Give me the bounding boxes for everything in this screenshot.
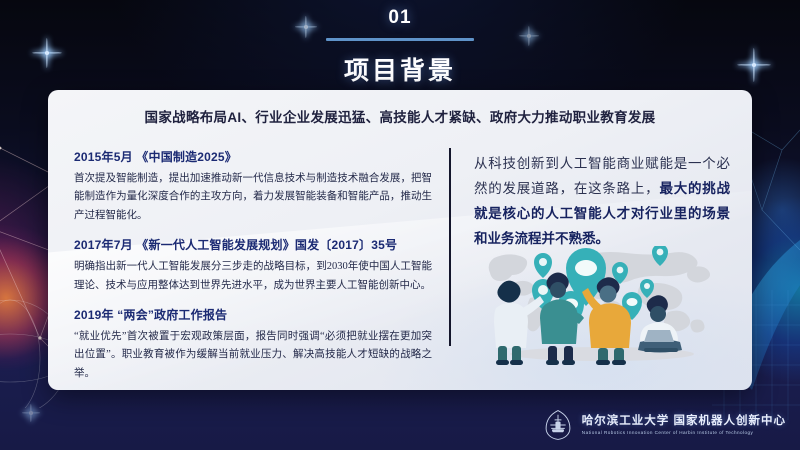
timeline-column: 2015年5月 《中国制造2025》 首次提及智能制造，提出加速推动新一代信息技… [48, 142, 450, 390]
card-headline: 国家战略布局AI、行业企业发展迅猛、高技能人才紧缺、政府大力推动职业教育发展 [48, 106, 752, 126]
entry-title: 2019年 “两会”政府工作报告 [74, 306, 432, 323]
footer-logo-en: National Robotics Innovation Center of H… [582, 430, 786, 435]
title-underline [326, 38, 474, 41]
content-card: 国家战略布局AI、行业企业发展迅猛、高技能人才紧缺、政府大力推动职业教育发展 2… [48, 90, 752, 390]
list-item: 2017年7月 《新一代人工智能发展规划》国发〔2017〕35号 明确指出新一代… [74, 236, 432, 295]
list-item: 2019年 “两会”政府工作报告 “就业优先”首次被置于宏观政策层面，报告同时强… [74, 306, 432, 383]
entry-body: 首次提及智能制造，提出加速推动新一代信息技术与制造技术融合发展，把智能制造作为量… [74, 170, 432, 225]
footer-text: 哈尔滨工业大学 国家机器人创新中心 National Robotics Inno… [582, 415, 786, 436]
quote-text: 从科技创新到人工智能商业赋能是一个必然的发展道路，在这条路上，最大的挑战就是核心… [474, 152, 730, 252]
location-pin [534, 253, 552, 278]
page-title: 项目背景 [0, 51, 800, 87]
entry-title: 2017年7月 《新一代人工智能发展规划》国发〔2017〕35号 [74, 236, 432, 253]
quote-column: 从科技创新到人工智能商业赋能是一个必然的发展道路，在这条路上，最大的挑战就是核心… [450, 142, 752, 390]
university-emblem-icon [541, 408, 575, 442]
slide-background: 01 项目背景 国家战略布局AI、行业企业发展迅猛、高技能人才紧缺、政府大力推动… [0, 0, 800, 450]
entry-body: “就业优先”首次被置于宏观政策层面，报告同时强调“必须把就业摆在更加突出位置”。… [74, 328, 432, 383]
footer-logo-cn: 哈尔滨工业大学 国家机器人创新中心 [582, 415, 786, 428]
column-divider [449, 148, 451, 346]
section-number: 01 [0, 6, 800, 30]
entry-title: 2015年5月 《中国制造2025》 [74, 148, 432, 165]
list-item: 2015年5月 《中国制造2025》 首次提及智能制造，提出加速推动新一代信息技… [74, 148, 432, 225]
card-columns: 2015年5月 《中国制造2025》 首次提及智能制造，提出加速推动新一代信息技… [48, 142, 752, 390]
footer-logo: 哈尔滨工业大学 国家机器人创新中心 National Robotics Inno… [541, 408, 786, 442]
world-map-people-illustration [454, 246, 750, 366]
entry-body: 明确指出新一代人工智能发展分三步走的战略目标，到2030年使中国人工智能理论、技… [74, 258, 432, 295]
slide-header: 01 项目背景 [0, 6, 800, 87]
